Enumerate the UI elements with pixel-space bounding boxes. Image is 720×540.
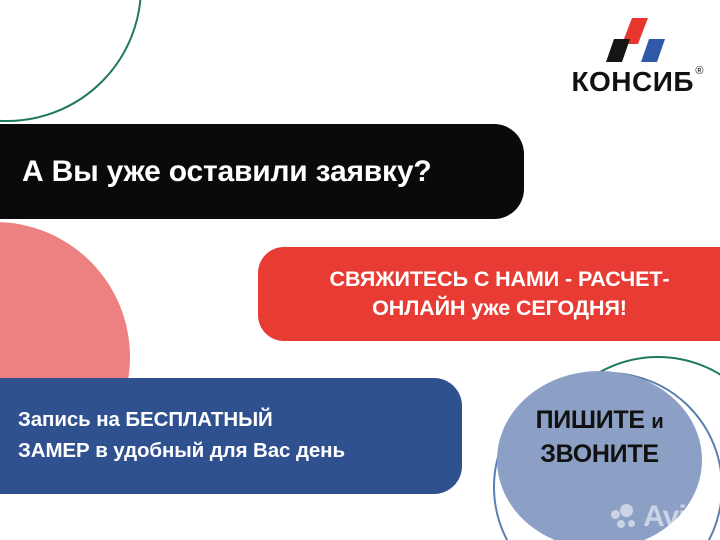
cta-red-line2-part1: ОНЛАЙН [372,296,465,320]
offer-blue-line2-part2: в удобный для Вас день [95,439,345,462]
poster-canvas: КОНСИБ ® А Вы уже оставили заявку? СВЯЖИ… [0,0,720,540]
headline-banner-black: А Вы уже оставили заявку? [0,124,524,219]
avito-watermark-text: Avito [643,502,712,532]
logo-mark-icon [554,18,704,68]
avito-dots-icon [611,504,641,530]
avito-watermark: Avito [611,502,712,532]
registered-trademark-icon: ® [695,66,704,77]
cta-red-line2-part2: уже [471,296,510,320]
contact-callout-conjunction: и [651,411,663,433]
contact-callout-line2: ЗВОНИТЕ [540,440,658,468]
logo-wordmark-text: КОНСИБ [571,66,694,97]
offer-blue-line1-part2: БЕСПЛАТНЫЙ [125,408,272,431]
cta-red-line1: СВЯЖИТЕСЬ С НАМИ - РАСЧЕТ- [330,267,670,291]
cta-banner-red: СВЯЖИТЕСЬ С НАМИ - РАСЧЕТ- ОНЛАЙН уже СЕ… [258,247,720,341]
offer-blue-line1-part1: Запись на [18,408,120,431]
cta-red-line2-part3: СЕГОДНЯ! [516,296,627,320]
cta-red-text: СВЯЖИТЕСЬ С НАМИ - РАСЧЕТ- ОНЛАЙН уже СЕ… [284,265,715,322]
contact-callout-line1: ПИШИТЕ [536,406,645,434]
offer-blue-line2-part1: ЗАМЕР [18,439,90,462]
logo-wordmark: КОНСИБ ® [554,68,704,96]
offer-banner-blue: Запись на БЕСПЛАТНЫЙ ЗАМЕР в удобный для… [0,378,462,494]
offer-blue-text: Запись на БЕСПЛАТНЫЙ ЗАМЕР в удобный для… [18,405,345,467]
contact-callout: ПИШИТЕ и ЗВОНИТЕ [497,404,702,472]
headline-black-text: А Вы уже оставили заявку? [22,155,431,189]
brand-logo: КОНСИБ ® [554,18,704,96]
decorative-green-ring-top-left [0,0,142,122]
